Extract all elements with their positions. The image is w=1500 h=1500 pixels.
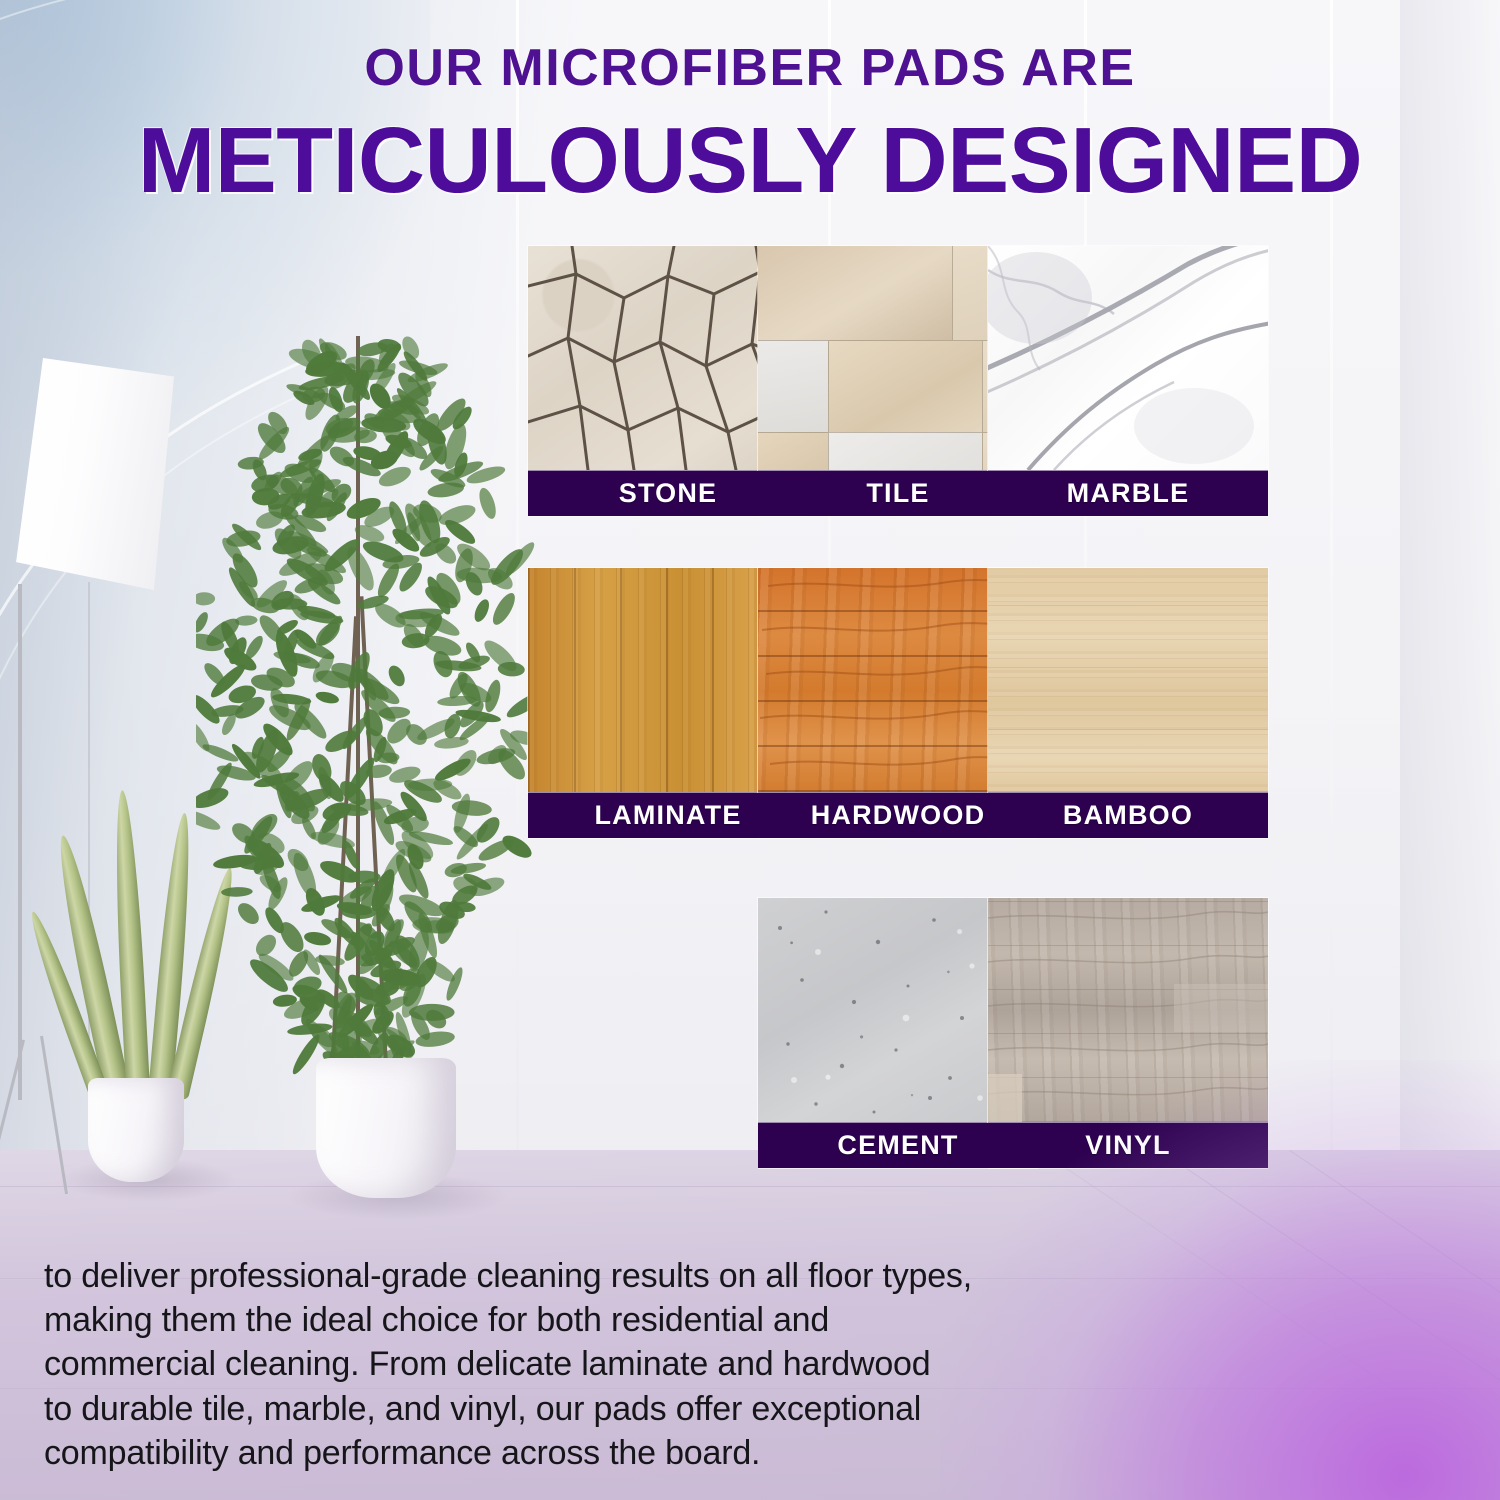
floor-lamp-pole bbox=[18, 584, 22, 1100]
surface-label-bamboo: BAMBOO bbox=[988, 792, 1268, 838]
infographic-canvas: OUR MICROFIBER PADS ARE METICULOUSLY DES… bbox=[0, 0, 1500, 1500]
surface-card-marble[interactable]: MARBLE bbox=[988, 246, 1268, 516]
surface-card-bamboo[interactable]: BAMBOO bbox=[988, 568, 1268, 838]
headline-block: OUR MICROFIBER PADS ARE METICULOUSLY DES… bbox=[0, 38, 1500, 207]
surface-thumbnail-marble bbox=[988, 246, 1268, 470]
headline-line-1: OUR MICROFIBER PADS ARE bbox=[0, 38, 1500, 98]
surface-label-marble: MARBLE bbox=[988, 470, 1268, 516]
plant-pot-large bbox=[316, 1058, 456, 1198]
ficus-tree bbox=[196, 316, 536, 1106]
plant-pot-small bbox=[88, 1078, 184, 1182]
headline-line-2: METICULOUSLY DESIGNED bbox=[0, 114, 1500, 207]
ficus-foliage bbox=[196, 316, 536, 1106]
surface-thumbnail-bamboo bbox=[988, 568, 1268, 792]
